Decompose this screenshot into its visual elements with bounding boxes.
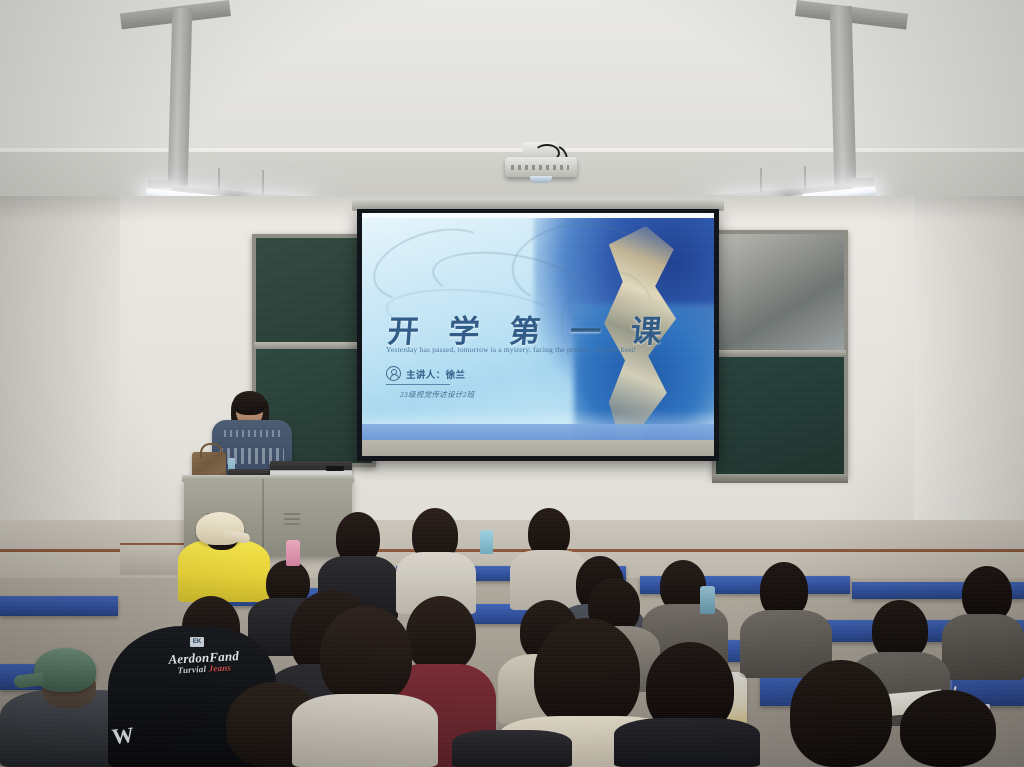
water-bottle — [700, 586, 715, 614]
student-head — [320, 606, 412, 704]
light-hanger — [760, 168, 762, 194]
light-fixture-cap — [148, 180, 174, 188]
light-hanger — [218, 168, 220, 192]
person-icon — [386, 366, 401, 381]
water-bottle — [286, 540, 300, 566]
ceiling-projector — [505, 157, 577, 177]
lectern-vent — [284, 518, 300, 520]
light-hanger — [262, 170, 264, 196]
blackboard-left-top-pane — [256, 238, 372, 342]
student-head — [790, 660, 892, 767]
slide-class-label: 23级视觉传达设计2班 — [400, 389, 475, 400]
lectern-vent — [284, 513, 300, 515]
right-wall — [914, 196, 1024, 576]
blackboard-right — [712, 230, 848, 478]
projector-lens — [530, 176, 552, 183]
ceiling-edge-highlight — [0, 148, 1024, 152]
presentation-slide: 开 学 第 一 课 Yesterday has passed, tomorrow… — [362, 218, 714, 456]
green-cap-icon — [34, 648, 96, 692]
beige-cap-icon — [196, 512, 244, 545]
student-head — [534, 618, 640, 730]
student-body — [614, 718, 760, 767]
blackboard-right-divider — [714, 350, 846, 357]
light-fixture-cap — [848, 178, 874, 186]
student-head — [900, 690, 996, 767]
presenter-glasses — [239, 406, 259, 412]
water-bottle — [480, 530, 493, 554]
blackboard-right-bottom-pane — [716, 357, 844, 474]
slide-speaker-label: 主讲人：徐兰 — [406, 367, 465, 381]
desk-row — [0, 596, 118, 616]
slide-blue-band — [362, 424, 714, 440]
slide-subtitle: Yesterday has passed, tomorrow is a myst… — [386, 345, 696, 354]
student-head — [406, 596, 476, 672]
student-body — [942, 614, 1024, 680]
blackboard-left-divider — [254, 342, 374, 349]
lectern-seam — [262, 479, 264, 557]
presenter-sweater-pattern — [224, 430, 280, 437]
hoodie-letter: W — [111, 722, 136, 750]
classroom-photo: 开 学 第 一 课 Yesterday has passed, tomorrow… — [0, 0, 1024, 767]
jacket-badge: EK — [190, 637, 204, 647]
light-hanger — [804, 166, 806, 190]
student-body — [452, 730, 572, 767]
slide-speaker-row: 主讲人：徐兰 — [386, 366, 465, 381]
slide-gray-band — [362, 440, 714, 456]
left-wall — [0, 196, 120, 576]
student-body — [292, 694, 438, 767]
blackboard-right-top-pane — [716, 234, 844, 350]
ceiling-drop-column-right — [830, 6, 857, 186]
slide-divider-rule — [386, 384, 450, 385]
student-head — [872, 600, 928, 660]
lectern-vent — [284, 523, 300, 525]
chalk-tray — [712, 474, 848, 483]
